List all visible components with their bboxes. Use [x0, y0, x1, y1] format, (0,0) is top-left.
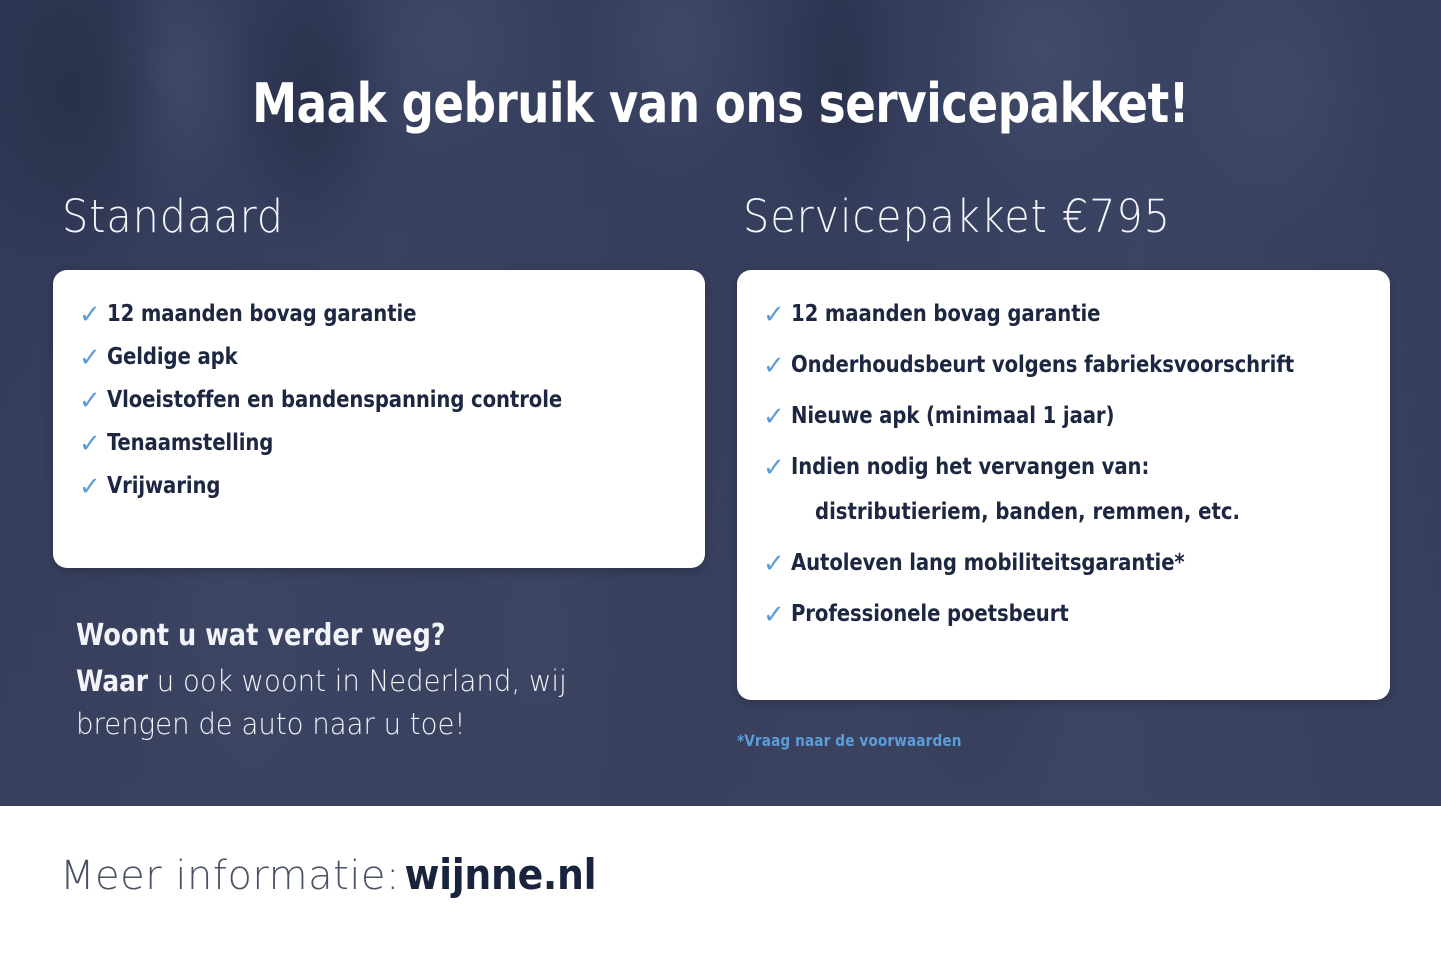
checkmark-icon: ✓: [79, 301, 101, 327]
checkmark-icon: ✓: [79, 344, 101, 370]
promo-answer-rest: u ook woont in Nederland, wij brengen de…: [76, 664, 567, 741]
feature-label: Tenaamstelling: [107, 429, 273, 458]
service-package-poster: Maak gebruik van ons servicepakket! Stan…: [0, 0, 1441, 960]
checkmark-icon: ✓: [79, 430, 101, 456]
list-item: ✓ Geldige apk: [53, 343, 705, 372]
feature-label: Vloeistoffen en bandenspanning controle: [107, 386, 562, 415]
list-item: ✓ Autoleven lang mobiliteitsgarantie*: [737, 549, 1390, 578]
more-information: Meer informatie: wijnne.nl: [60, 850, 596, 899]
list-item: ✓ Vloeistoffen en bandenspanning control…: [53, 386, 705, 415]
feature-label-continuation: distributieriem, banden, remmen, etc.: [815, 498, 1240, 527]
checkmark-icon: ✓: [763, 454, 785, 480]
list-item: ✓ Tenaamstelling: [53, 429, 705, 458]
feature-label: Indien nodig het vervangen van:: [791, 453, 1149, 482]
list-item: ✓ Nieuwe apk (minimaal 1 jaar): [737, 402, 1390, 431]
list-item: ✓ 12 maanden bovag garantie: [737, 300, 1390, 329]
checkmark-icon: ✓: [763, 352, 785, 378]
servicepackage-column-heading: Servicepakket €795: [743, 190, 1171, 243]
list-item: ✓ 12 maanden bovag garantie: [53, 300, 705, 329]
promo-question: Woont u wat verder weg?: [76, 618, 665, 654]
more-information-label: Meer informatie:: [60, 853, 400, 899]
standard-feature-list: ✓ 12 maanden bovag garantie ✓ Geldige ap…: [53, 270, 705, 501]
conditions-footnote: *Vraag naar de voorwaarden: [737, 731, 962, 750]
website-link[interactable]: wijnne.nl: [404, 850, 596, 899]
checkmark-icon: ✓: [763, 550, 785, 576]
checkmark-icon: ✓: [79, 387, 101, 413]
service-feature-list: ✓ 12 maanden bovag garantie ✓ Onderhouds…: [737, 270, 1390, 629]
feature-label: Onderhoudsbeurt volgens fabrieksvoorschr…: [791, 351, 1294, 380]
standard-package-card: ✓ 12 maanden bovag garantie ✓ Geldige ap…: [53, 270, 705, 568]
feature-label: Professionele poetsbeurt: [791, 600, 1069, 629]
feature-label: 12 maanden bovag garantie: [107, 300, 416, 329]
list-item: ✓ Onderhoudsbeurt volgens fabrieksvoorsc…: [737, 351, 1390, 380]
feature-label: Nieuwe apk (minimaal 1 jaar): [791, 402, 1114, 431]
feature-label: Geldige apk: [107, 343, 238, 372]
checkmark-icon: ✓: [763, 301, 785, 327]
feature-label: Autoleven lang mobiliteitsgarantie*: [791, 549, 1185, 578]
feature-label: Vrijwaring: [107, 472, 220, 501]
footer-bar: Meer informatie: wijnne.nl AUTOBEDRIJF W…: [0, 806, 1441, 960]
list-item: ✓ Vrijwaring: [53, 472, 705, 501]
checkmark-icon: ✓: [79, 473, 101, 499]
feature-label: 12 maanden bovag garantie: [791, 300, 1100, 329]
page-title: Maak gebruik van ons servicepakket!: [50, 72, 1390, 135]
standard-column-heading: Standaard: [62, 190, 284, 243]
list-item: ✓ Professionele poetsbeurt: [737, 600, 1390, 629]
promo-answer-emphasis: Waar: [76, 664, 148, 698]
checkmark-icon: ✓: [763, 403, 785, 429]
promo-answer: Waar u ook woont in Nederland, wij breng…: [76, 660, 665, 746]
checkmark-icon: ✓: [763, 601, 785, 627]
list-item: ✓ Indien nodig het vervangen van: distri…: [737, 453, 1390, 527]
delivery-promo-text: Woont u wat verder weg? Waar u ook woont…: [76, 618, 696, 746]
service-package-card: ✓ 12 maanden bovag garantie ✓ Onderhouds…: [737, 270, 1390, 700]
